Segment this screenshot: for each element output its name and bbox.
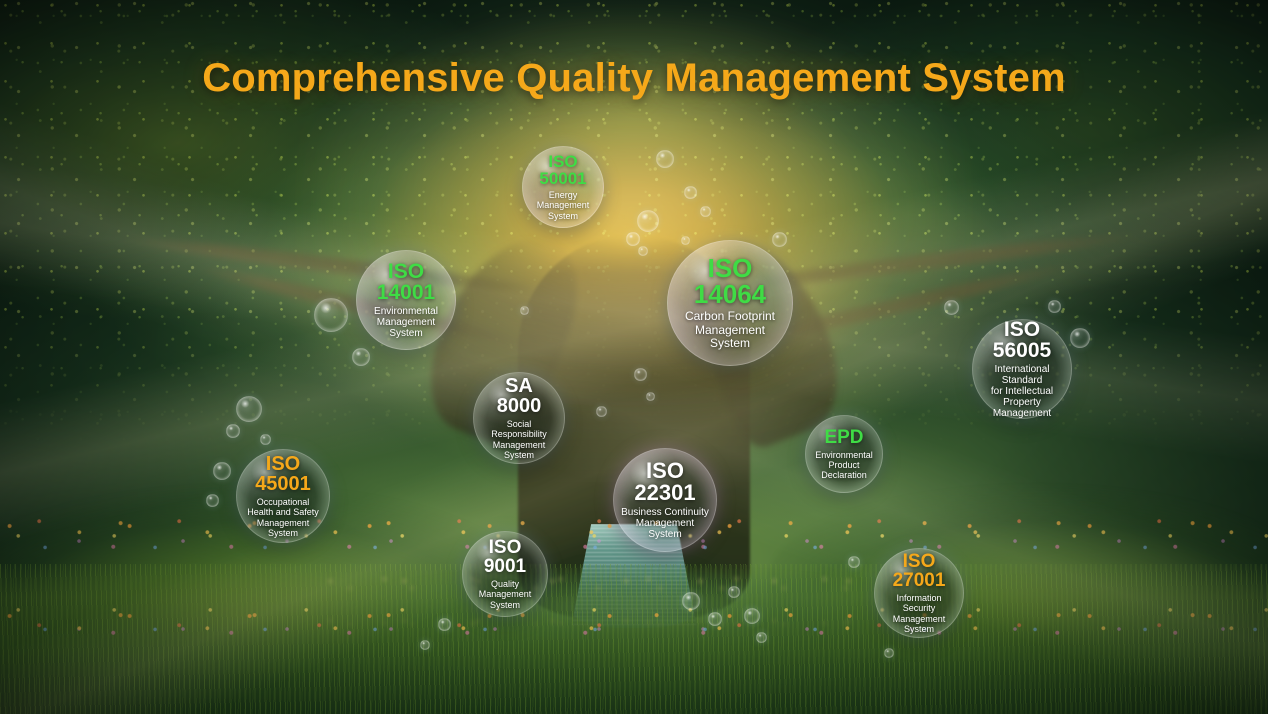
standard-description-line: Information Security: [881, 593, 957, 613]
standard-bubble-iso-56005[interactable]: ISO56005International Standardfor Intell…: [972, 319, 1072, 419]
floating-bubble: [848, 556, 860, 568]
floating-bubble: [684, 186, 697, 199]
standard-description: Social ResponsibilityManagementSystem: [474, 419, 564, 459]
presentation-slide: Comprehensive Quality Management System …: [0, 0, 1268, 714]
floating-bubble: [681, 236, 690, 245]
standard-bubble-iso-45001[interactable]: ISO45001OccupationalHealth and SafetyMan…: [236, 449, 330, 543]
standard-code: ISO27001: [893, 552, 946, 590]
standard-code: ISO56005: [993, 319, 1051, 361]
floating-bubble: [314, 298, 348, 332]
standard-description-line: Product: [815, 460, 873, 470]
standard-code-number: 45001: [255, 474, 311, 494]
standard-description: Carbon FootprintManagementSystem: [679, 310, 781, 350]
floating-bubble: [728, 586, 740, 598]
standard-code-number: 50001: [539, 170, 586, 187]
floating-bubble: [884, 648, 894, 658]
standard-code: ISO50001: [539, 153, 586, 187]
standard-description-line: Environmental: [374, 306, 438, 317]
standard-description-line: International Standard: [979, 364, 1065, 386]
standard-description: EnvironmentalProductDeclaration: [809, 450, 879, 480]
standard-description: EnergyManagementSystem: [531, 190, 596, 220]
standard-description-line: Business Continuity: [621, 507, 709, 518]
floating-bubble: [744, 608, 760, 624]
standard-description-line: Management: [881, 614, 957, 624]
standard-code-number: 14064: [694, 281, 766, 307]
standard-description-line: Social Responsibility: [480, 419, 558, 439]
standard-code-prefix: SA: [497, 376, 542, 396]
floating-bubble: [756, 632, 767, 643]
floating-bubble: [352, 348, 370, 366]
standard-description-line: Carbon Footprint: [685, 310, 775, 323]
standard-bubble-iso-27001[interactable]: ISO27001Information SecurityManagementSy…: [874, 548, 964, 638]
floating-bubble: [596, 406, 607, 417]
standard-description: OccupationalHealth and SafetyManagementS…: [241, 497, 325, 537]
standard-code: ISO22301: [634, 460, 695, 504]
floating-bubble: [682, 592, 700, 610]
standard-code-prefix: ISO: [255, 454, 311, 474]
page-title: Comprehensive Quality Management System: [0, 56, 1268, 101]
standard-code-number: 8000: [497, 396, 542, 416]
standard-description-line: Management: [374, 317, 438, 328]
standard-description-line: Management: [247, 518, 319, 528]
floating-bubble: [226, 424, 240, 438]
standard-code-prefix: ISO: [539, 153, 586, 170]
standard-code-number: 27001: [893, 571, 946, 590]
floating-bubble: [438, 618, 451, 631]
standard-description-line: System: [479, 600, 532, 610]
floating-bubble: [634, 368, 647, 381]
floating-bubble: [1070, 328, 1090, 348]
standard-description: EnvironmentalManagementSystem: [368, 306, 444, 340]
standard-description-line: Management: [479, 589, 532, 599]
standard-code: SA8000: [497, 376, 542, 416]
standard-bubble-sa-8000[interactable]: SA8000Social ResponsibilityManagementSys…: [473, 372, 565, 464]
floating-bubble: [656, 150, 674, 168]
standard-description-line: Property: [979, 397, 1065, 408]
standard-description-line: Management: [480, 440, 558, 450]
standard-code-prefix: ISO: [484, 538, 526, 557]
floating-bubble: [638, 246, 648, 256]
standard-description-line: System: [621, 529, 709, 540]
standard-description-line: System: [881, 624, 957, 634]
standard-code-number: 22301: [634, 482, 695, 504]
standard-code: ISO14064: [694, 255, 766, 307]
standard-description-line: Quality: [479, 579, 532, 589]
standard-bubble-iso-50001[interactable]: ISO50001EnergyManagementSystem: [522, 146, 604, 228]
floating-bubble: [646, 392, 655, 401]
floating-bubble: [626, 232, 640, 246]
floating-bubble: [772, 232, 787, 247]
standard-description-line: Occupational: [247, 497, 319, 507]
floating-bubble: [420, 640, 430, 650]
standard-description-line: Environmental: [815, 450, 873, 460]
standard-code-prefix: ISO: [893, 552, 946, 571]
standard-bubble-iso-9001[interactable]: ISO9001QualityManagementSystem: [462, 531, 548, 617]
standard-code-number: EPD: [824, 428, 863, 447]
floating-bubble: [708, 612, 722, 626]
standard-description-line: Management: [537, 200, 590, 210]
floating-bubble: [1048, 300, 1061, 313]
standard-description: Business ContinuityManagementSystem: [615, 507, 715, 541]
floating-bubble: [260, 434, 271, 445]
standard-description-line: System: [537, 211, 590, 221]
standard-description-line: System: [374, 328, 438, 339]
standard-code-number: 56005: [993, 340, 1051, 361]
standard-code-prefix: ISO: [993, 319, 1051, 340]
standard-description: Information SecurityManagementSystem: [875, 593, 963, 633]
standard-bubble-iso-14001[interactable]: ISO14001EnvironmentalManagementSystem: [356, 250, 456, 350]
standard-description-line: Declaration: [815, 470, 873, 480]
standard-description-line: System: [247, 528, 319, 538]
standard-code: EPD: [824, 428, 863, 447]
standard-description: International Standardfor IntellectualPr…: [973, 364, 1071, 420]
standard-description-line: Management: [979, 408, 1065, 419]
standard-code-prefix: ISO: [377, 261, 435, 282]
standard-description-line: System: [685, 337, 775, 350]
standard-description-line: Health and Safety: [247, 507, 319, 517]
floating-bubble: [637, 210, 659, 232]
standard-code-number: 14001: [377, 282, 435, 303]
floating-bubble: [700, 206, 711, 217]
floating-bubble: [206, 494, 219, 507]
standard-description-line: Management: [621, 518, 709, 529]
standard-code: ISO45001: [255, 454, 311, 494]
standard-code-prefix: ISO: [634, 460, 695, 482]
floating-bubble: [944, 300, 959, 315]
standard-code: ISO9001: [484, 538, 526, 576]
floating-bubble: [213, 462, 231, 480]
standard-code-number: 9001: [484, 557, 526, 576]
standard-description-line: for Intellectual: [979, 386, 1065, 397]
standard-description-line: Energy: [537, 190, 590, 200]
floating-bubble: [520, 306, 529, 315]
floating-bubble: [236, 396, 262, 422]
standard-code: ISO14001: [377, 261, 435, 303]
standard-bubble-iso-22301[interactable]: ISO22301Business ContinuityManagementSys…: [613, 448, 717, 552]
standard-bubble-epd[interactable]: EPDEnvironmentalProductDeclaration: [805, 415, 883, 493]
standard-description-line: System: [480, 450, 558, 460]
standard-description: QualityManagementSystem: [473, 579, 538, 609]
standard-code-prefix: ISO: [694, 255, 766, 281]
standard-bubble-iso-14064[interactable]: ISO14064Carbon FootprintManagementSystem: [667, 240, 793, 366]
